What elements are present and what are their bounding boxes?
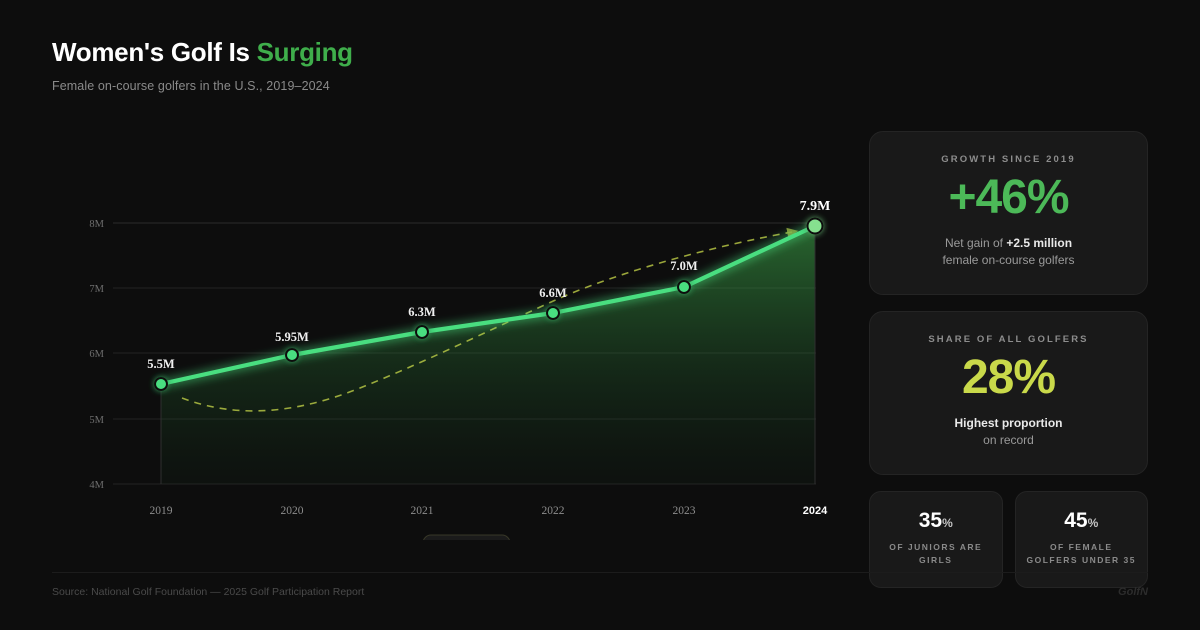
share-sub-strong: Highest proportion [955, 416, 1063, 430]
share-card: Share of All Golfers 28% Highest proport… [869, 311, 1148, 475]
line-chart: 8M 7M 6M 5M 4M 5.5M 5.95M 6.3M [0, 120, 860, 540]
data-point[interactable] [155, 378, 167, 390]
point-label: 5.5M [147, 357, 175, 371]
share-card-sub: Highest proportion on record [888, 415, 1129, 450]
chart-y-axis: 8M 7M 6M 5M 4M [89, 219, 104, 491]
chart-area-fill [161, 226, 815, 484]
data-point[interactable] [286, 349, 298, 361]
mini-stat-number: 45 [1064, 509, 1087, 532]
y-tick-label: 8M [89, 219, 104, 230]
x-tick-label-2020: 2020 [281, 505, 304, 517]
growth-sub-strong: +2.5 million [1006, 236, 1072, 250]
data-point-latest[interactable] [808, 219, 823, 234]
x-tick-label-2023: 2023 [673, 505, 696, 517]
page-title-main: Women's Golf Is [52, 37, 250, 67]
growth-sub-pre: Net gain of [945, 236, 1006, 250]
point-label: 5.95M [275, 330, 309, 344]
growth-card: Growth Since 2019 +46% Net gain of +2.5 … [869, 131, 1148, 295]
footer-divider [52, 572, 1148, 573]
share-card-label: Share of All Golfers [888, 334, 1129, 345]
mini-stat-percent: % [942, 516, 953, 530]
y-tick-label: 5M [89, 415, 104, 426]
brand-watermark: GolfN [1118, 586, 1148, 598]
x-tick-label-2021: 2021 [411, 505, 434, 517]
mini-stats-row: 35% Of juniors are girls 45% Of female g… [869, 491, 1148, 588]
growth-card-value: +46% [888, 174, 1129, 222]
mini-stat-value: 45% [1024, 510, 1140, 531]
y-tick-label: 4M [89, 480, 104, 491]
page-title: Women's Golf Is Surging [52, 38, 353, 68]
point-label: 7.0M [670, 259, 698, 273]
x-tick-label-2019: 2019 [150, 505, 173, 517]
data-point[interactable] [416, 326, 428, 338]
growth-card-label: Growth Since 2019 [888, 154, 1129, 165]
page-header: Women's Golf Is Surging Female on-course… [52, 38, 353, 93]
point-label: 6.6M [539, 286, 567, 300]
mini-stat-label: Of juniors are girls [878, 541, 994, 567]
share-card-value: 28% [888, 354, 1129, 402]
source-note: Source: National Golf Foundation — 2025 … [52, 586, 364, 598]
mini-stat-label: Of female golfers under 35 [1024, 541, 1140, 567]
mini-stat-number: 35 [919, 509, 942, 532]
growth-card-sub: Net gain of +2.5 million female on-cours… [888, 235, 1129, 270]
growth-sub-post: female on-course golfers [942, 253, 1074, 267]
stats-sidebar: Growth Since 2019 +46% Net gain of +2.5 … [869, 131, 1148, 588]
data-point[interactable] [547, 307, 559, 319]
mini-stat-value: 35% [878, 510, 994, 531]
y-tick-label: 7M [89, 284, 104, 295]
chart-canvas: 8M 7M 6M 5M 4M 5.5M 5.95M 6.3M [0, 120, 860, 540]
page-subtitle: Female on-course golfers in the U.S., 20… [52, 79, 353, 93]
chart-x-axis: 2019 2020 2021 2022 2023 2024 [150, 505, 829, 517]
page-title-accent: Surging [257, 37, 353, 67]
point-label: 6.3M [408, 305, 436, 319]
mini-stat-under35: 45% Of female golfers under 35 [1015, 491, 1149, 588]
share-sub-post: on record [983, 433, 1034, 447]
growth-annotation-badge: +46% [423, 535, 510, 540]
data-point[interactable] [678, 281, 690, 293]
x-tick-label-2022: 2022 [542, 505, 565, 517]
point-label-latest: 7.9M [800, 199, 831, 214]
x-tick-label-2024: 2024 [803, 505, 828, 517]
y-tick-label: 6M [89, 349, 104, 360]
mini-stat-juniors: 35% Of juniors are girls [869, 491, 1003, 588]
mini-stat-percent: % [1088, 516, 1099, 530]
